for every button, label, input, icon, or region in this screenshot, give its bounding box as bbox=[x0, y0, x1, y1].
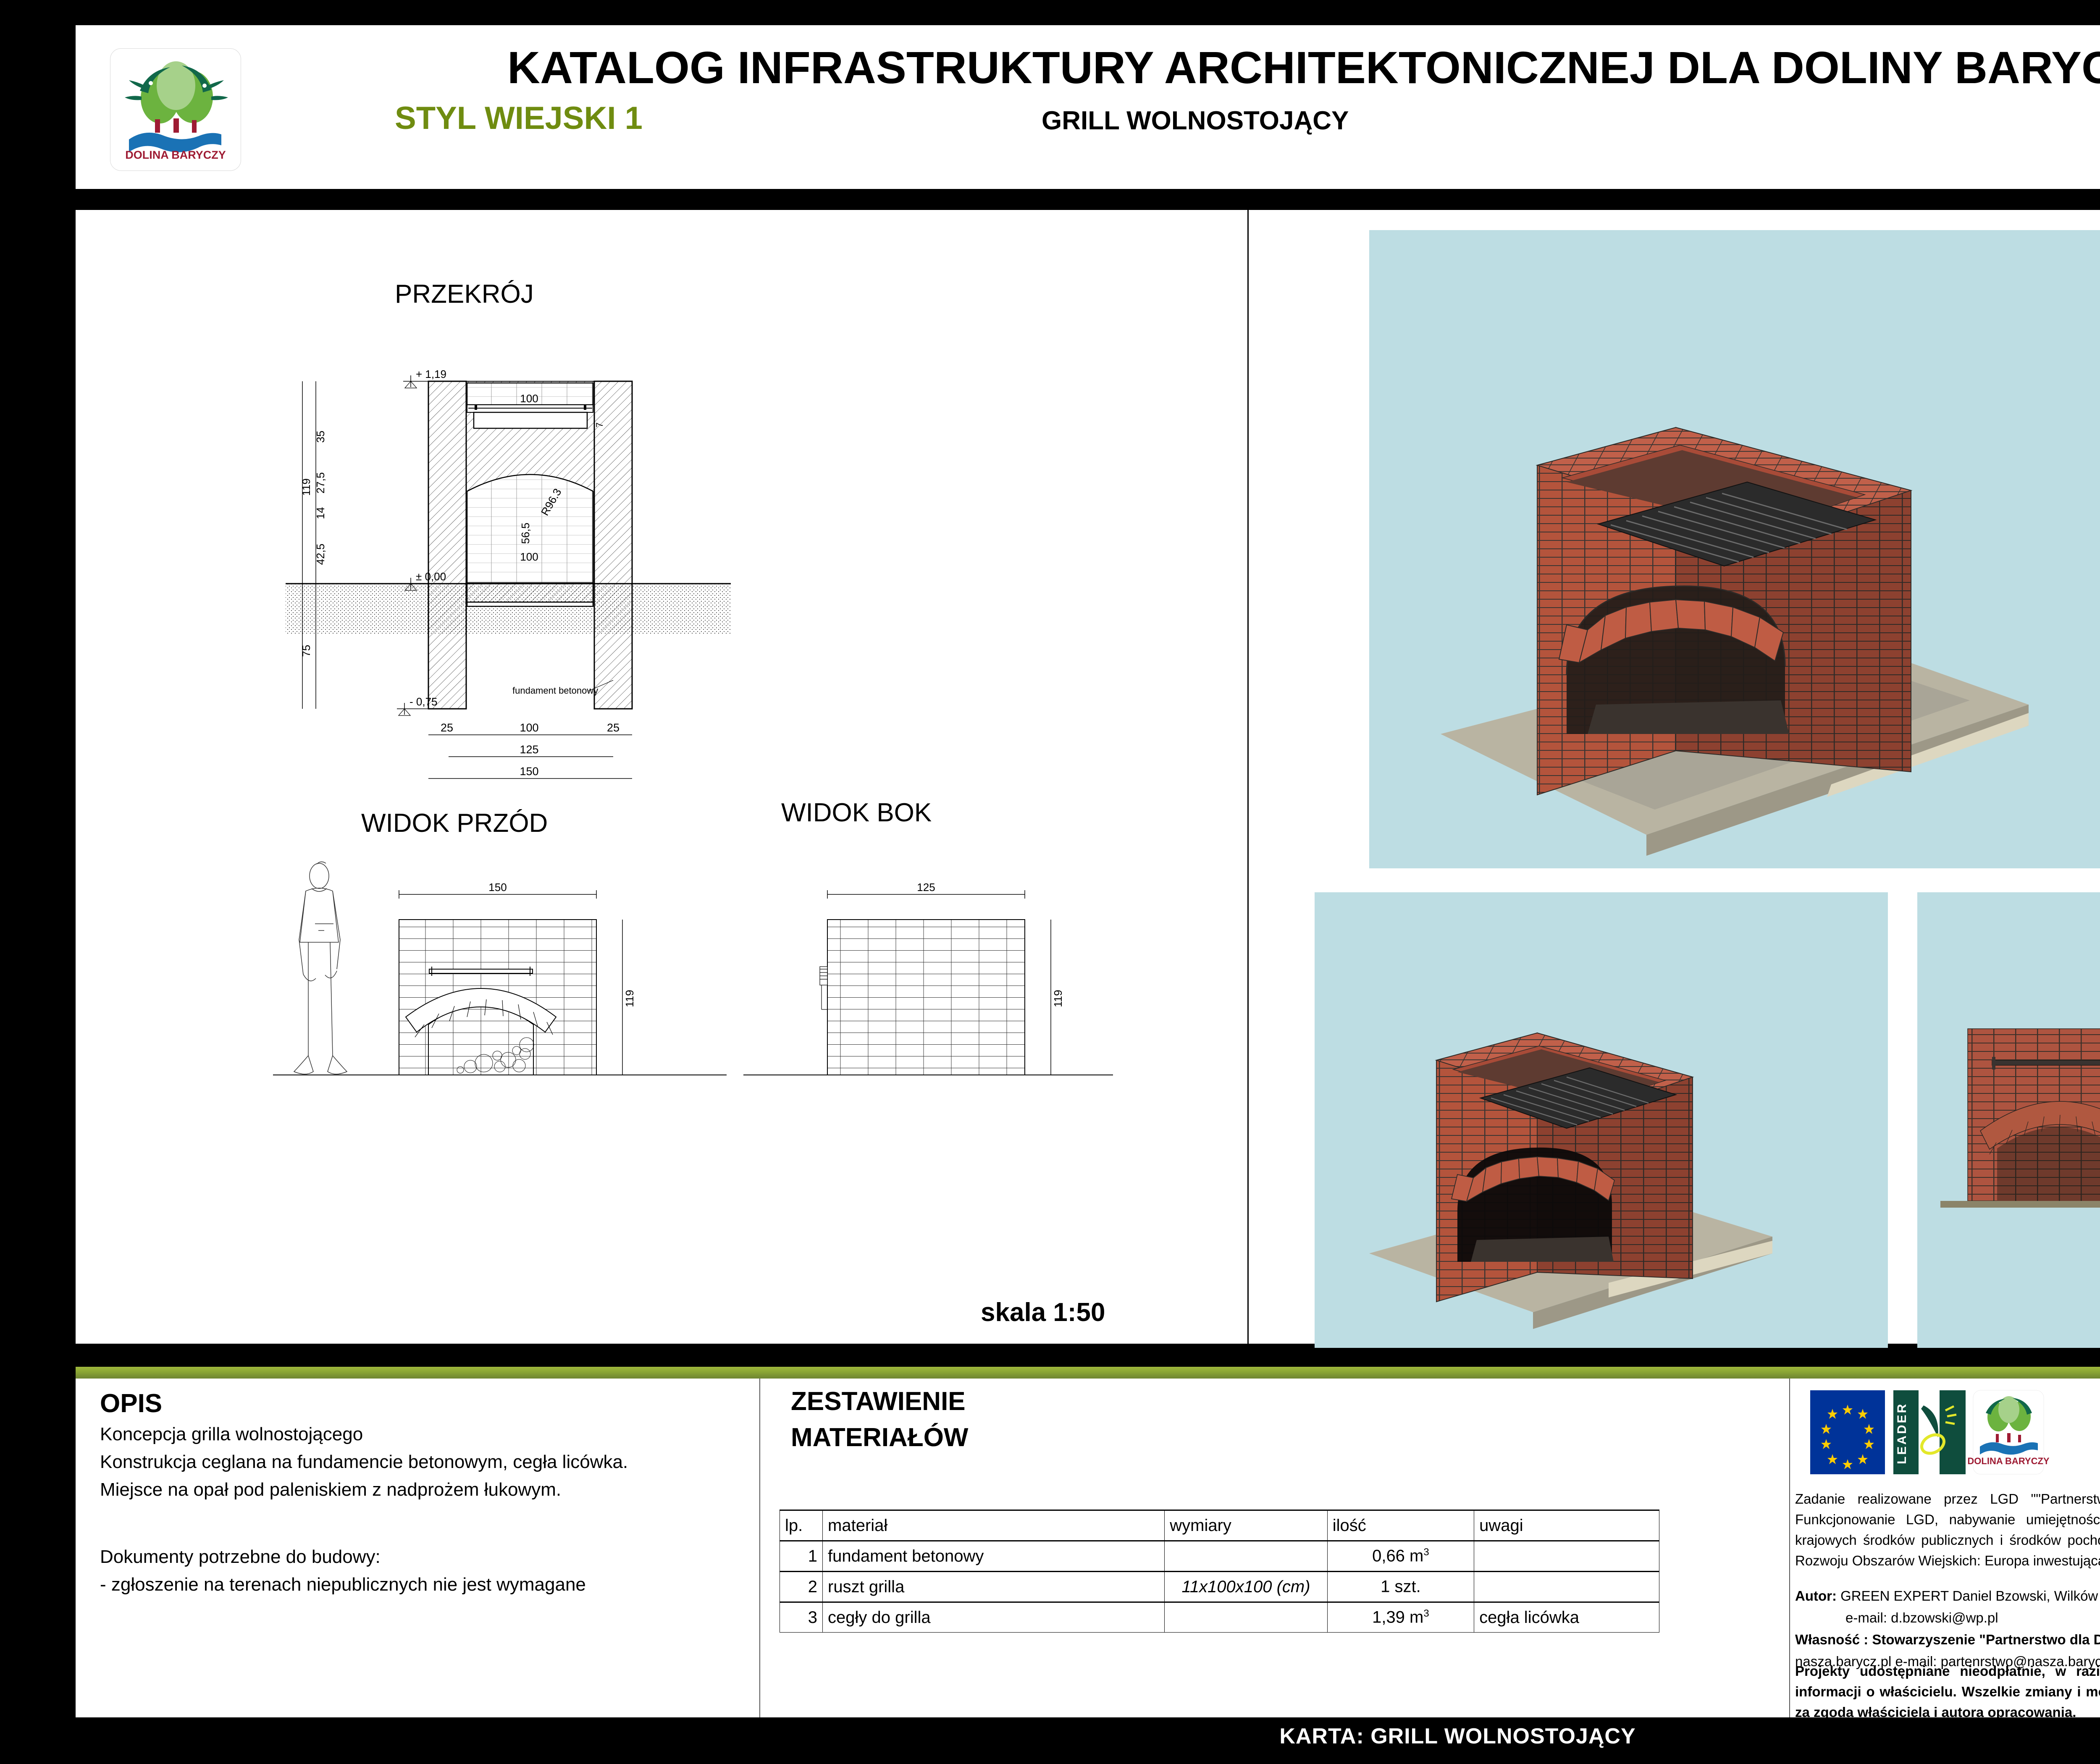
dim-side-height: 119 bbox=[1052, 990, 1064, 1007]
dolina-baryczy-small-icon: DOLINA BARYCZY bbox=[1967, 1390, 2049, 1474]
render-perspective-main bbox=[1369, 230, 2100, 868]
cross-section-drawing: 35 27,5 14 42,5 119 75 56,5 R96.3 100 10… bbox=[277, 332, 739, 794]
dim-h-75: 75 bbox=[300, 645, 312, 657]
vertical-divider bbox=[1247, 210, 1249, 1344]
funding-panel: LEADER DOLINA BARYCZY bbox=[1789, 1367, 2100, 1717]
dim-w-left: 25 bbox=[441, 721, 453, 734]
front-view-drawing: 150 119 bbox=[273, 857, 735, 1151]
catalog-sheet: DOLINA BARYCZY KATALOG INFRASTRUKTURY AR… bbox=[0, 0, 2100, 1764]
dim-h-total: 119 bbox=[300, 478, 312, 495]
dim-front-width: 150 bbox=[488, 881, 507, 894]
karta-footer-bar: KARTA: GRILL WOLNOSTOJĄCY bbox=[0, 1724, 2100, 1749]
cell-material: ruszt grilla bbox=[823, 1572, 1165, 1602]
front-view-label: WIDOK PRZÓD bbox=[361, 808, 548, 838]
leader-wordmark: LEADER bbox=[1895, 1402, 1909, 1464]
level-top: + 1,19 bbox=[416, 368, 446, 380]
table-row: 3 cegły do grilla 1,39 m3 cegła licówka bbox=[780, 1602, 1659, 1633]
render-perspective-secondary bbox=[1315, 892, 1888, 1348]
cell-lp: 3 bbox=[780, 1602, 823, 1633]
dim-h-275: 27,5 bbox=[314, 472, 327, 494]
col-wymiary: wymiary bbox=[1165, 1510, 1328, 1541]
col-lp: lp. bbox=[780, 1510, 823, 1541]
materials-panel: ZESTAWIENIE MATERIAŁÓW lp. materiał wymi… bbox=[759, 1367, 1789, 1717]
table-row: 1 fundament betonowy 0,66 m3 bbox=[780, 1541, 1659, 1572]
eu-flag-icon bbox=[1810, 1390, 1885, 1474]
opis-docs-heading: Dokumenty potrzebne do budowy: bbox=[100, 1543, 747, 1571]
dolina-baryczy-logo: DOLINA BARYCZY bbox=[110, 48, 241, 171]
opis-heading: OPIS bbox=[100, 1389, 162, 1418]
cell-wymiary bbox=[1165, 1541, 1328, 1572]
opis-line-1: Koncepcja grilla wolnostojącego bbox=[100, 1421, 747, 1448]
cell-lp: 2 bbox=[780, 1572, 823, 1602]
cell-uwagi: cegła licówka bbox=[1474, 1602, 1659, 1633]
karta-label: KARTA: GRILL WOLNOSTOJĄCY bbox=[1279, 1724, 1635, 1748]
owner-line: Własność : Stowarzyszenie "Partnerstwo d… bbox=[1795, 1629, 2100, 1651]
funding-logos: LEADER DOLINA BARYCZY bbox=[1798, 1384, 2100, 1481]
owner-label: Własność : Stowarzyszenie "Partnerstwo d… bbox=[1795, 1632, 2100, 1647]
col-uwagi: uwagi bbox=[1474, 1510, 1659, 1541]
opis-docs-line-1: - zgłoszenie na terenach niepublicznych … bbox=[100, 1571, 747, 1599]
dim-front-height: 119 bbox=[623, 990, 636, 1007]
cell-wymiary bbox=[1165, 1602, 1328, 1633]
opis-line-3: Miejsce na opał pod paleniskiem z nadpro… bbox=[100, 1476, 747, 1504]
cell-wymiary: 11x100x100 (cm) bbox=[1165, 1572, 1328, 1602]
cell-material: fundament betonowy bbox=[823, 1541, 1165, 1572]
section-view-label: PRZEKRÓJ bbox=[395, 279, 534, 309]
dim-grate-thickness: 7 bbox=[594, 422, 605, 427]
leader-logo-icon: LEADER bbox=[1893, 1390, 1966, 1474]
opis-line-2: Konstrukcja ceglana na fundamencie beton… bbox=[100, 1448, 747, 1476]
materials-heading: ZESTAWIENIE MATERIAŁÓW bbox=[791, 1384, 968, 1456]
cell-uwagi bbox=[1474, 1541, 1659, 1572]
opis-body: Koncepcja grilla wolnostojącego Konstruk… bbox=[100, 1421, 747, 1504]
author-line: Autor: GREEN EXPERT Daniel Bzowski, Wilk… bbox=[1795, 1585, 2100, 1607]
cell-lp: 1 bbox=[780, 1541, 823, 1572]
dim-w-125: 125 bbox=[520, 743, 538, 756]
author-email: e-mail: d.bzowski@wp.pl bbox=[1795, 1607, 2100, 1629]
materials-heading-line-1: ZESTAWIENIE bbox=[791, 1384, 968, 1420]
author-label: Autor: bbox=[1795, 1588, 1837, 1604]
cell-material: cegły do grilla bbox=[823, 1602, 1165, 1633]
dim-side-width: 125 bbox=[917, 881, 935, 894]
dolina-baryczy-icon: DOLINA BARYCZY bbox=[110, 49, 241, 170]
table-header-row: lp. materiał wymiary ilość uwagi bbox=[780, 1510, 1659, 1541]
dim-h-425: 42,5 bbox=[314, 544, 327, 565]
render-elevation-front bbox=[1917, 892, 2100, 1348]
cell-ilosc: 1 szt. bbox=[1327, 1572, 1474, 1602]
human-scale-figure bbox=[294, 862, 347, 1074]
foundation-note: fundament betonowy bbox=[512, 685, 598, 696]
table-row: 2 ruszt grilla 11x100x100 (cm) 1 szt. bbox=[780, 1572, 1659, 1602]
side-view-drawing: 125 119 bbox=[743, 857, 1121, 1151]
funding-statement: Zadanie realizowane przez LGD ""Partners… bbox=[1795, 1489, 2100, 1571]
dim-opening-height: 56,5 bbox=[519, 523, 532, 544]
grate-edge-icon bbox=[820, 967, 827, 1009]
drawing-area: PRZEKRÓJ WIDOK PRZÓD WIDOK BOK skala 1:5… bbox=[76, 210, 2100, 1344]
cell-ilosc: 0,66 m3 bbox=[1327, 1541, 1474, 1572]
disclaimer-text: Projekty udostępniane nieodpłatnie, w ra… bbox=[1795, 1661, 2100, 1722]
page-footer: OPIS Koncepcja grilla wolnostojącego Kon… bbox=[76, 1367, 2100, 1717]
col-material: materiał bbox=[823, 1510, 1165, 1541]
materials-heading-line-2: MATERIAŁÓW bbox=[791, 1420, 968, 1456]
dim-h-14: 14 bbox=[314, 507, 327, 519]
author-text: GREEN EXPERT Daniel Bzowski, Wilków Wiel… bbox=[1840, 1588, 2100, 1604]
page-title: KATALOG INFRASTRUKTURY ARCHITEKTONICZNEJ… bbox=[311, 41, 2100, 94]
opis-documents: Dokumenty potrzebne do budowy: - zgłosze… bbox=[100, 1543, 747, 1599]
style-label: STYL WIEJSKI 1 bbox=[395, 100, 643, 136]
dolina-baryczy-small-text: DOLINA BARYCZY bbox=[1967, 1456, 2049, 1466]
col-ilosc: ilość bbox=[1327, 1510, 1474, 1541]
materials-table: lp. materiał wymiary ilość uwagi 1 funda… bbox=[780, 1510, 1659, 1633]
dim-inner-width-bottom: 100 bbox=[520, 550, 538, 563]
level-footing: - 0,75 bbox=[409, 695, 438, 708]
dim-w-right: 25 bbox=[607, 721, 619, 734]
author-block: Autor: GREEN EXPERT Daniel Bzowski, Wilk… bbox=[1795, 1585, 2100, 1672]
dim-w-150: 150 bbox=[520, 765, 538, 778]
scale-label: skala 1:50 bbox=[981, 1297, 1105, 1327]
cell-uwagi bbox=[1474, 1572, 1659, 1602]
dim-w-mid: 100 bbox=[520, 721, 538, 734]
dolina-baryczy-logo-text: DOLINA BARYCZY bbox=[125, 149, 226, 161]
level-zero: ± 0,00 bbox=[416, 570, 446, 583]
page-header: DOLINA BARYCZY KATALOG INFRASTRUKTURY AR… bbox=[76, 25, 2100, 189]
side-view-label: WIDOK BOK bbox=[781, 798, 932, 828]
object-label: GRILL WOLNOSTOJĄCY bbox=[1042, 106, 1349, 136]
dim-inner-width-top: 100 bbox=[520, 392, 538, 405]
dim-h-35: 35 bbox=[314, 431, 327, 443]
cell-ilosc: 1,39 m3 bbox=[1327, 1602, 1474, 1633]
